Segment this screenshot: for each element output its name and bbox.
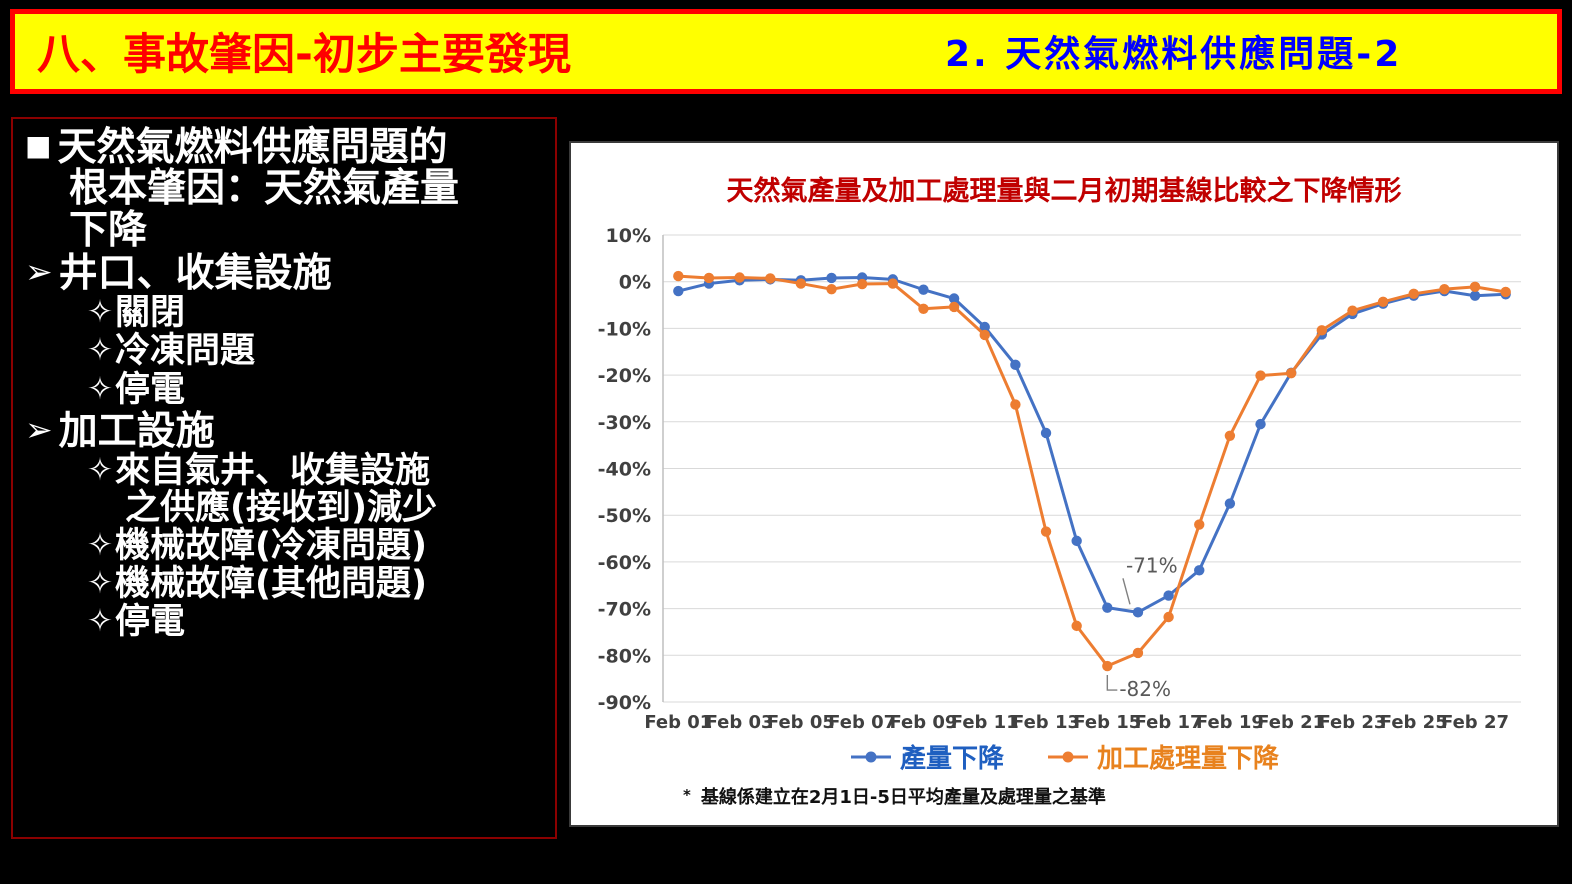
header-banner: 八、事故肇因-初步主要發現 2. 天然氣燃料供應問題-2 xyxy=(10,9,1562,94)
chart-data-point xyxy=(1133,648,1143,658)
bullet-text: 冷凍問題 xyxy=(115,333,255,370)
x-axis-tick-label: Feb 11 xyxy=(951,712,1019,733)
x-axis-tick-label: Feb 05 xyxy=(767,712,835,733)
y-axis-tick-label: -60% xyxy=(598,552,651,574)
x-axis-tick-label: Feb 27 xyxy=(1441,712,1509,733)
chart-legend: 產量下降 加工處理量下降 xyxy=(571,738,1557,775)
chart-footnote: *基線係建立在2月1日-5日平均產量及處理量之基準 xyxy=(683,783,1106,809)
bullet-text: 機械故障(其他問題) xyxy=(115,566,427,603)
chart-data-point xyxy=(918,304,928,314)
footnote-marker: * xyxy=(683,786,691,804)
chart-data-point xyxy=(949,302,959,312)
bullet-item-level-2: ✧停電 xyxy=(87,604,549,641)
chart-data-point xyxy=(1010,360,1020,370)
x-axis-tick-label: Feb 09 xyxy=(889,712,957,733)
x-axis-tick-label: Feb 21 xyxy=(1257,712,1325,733)
chart-data-point xyxy=(1071,621,1081,631)
bullet-list-panel: ■天然氣燃料供應問題的根本肇因：天然氣產量下降➢井口、收集設施✧關閉✧冷凍問題✧… xyxy=(11,117,557,839)
legend-item-production[interactable]: 產量下降 xyxy=(849,738,1004,775)
chart-data-point xyxy=(1255,419,1265,429)
annotation-leader-line xyxy=(1107,675,1117,690)
bullet-text: 機械故障(冷凍問題) xyxy=(115,528,427,565)
chart-data-point xyxy=(1409,289,1419,299)
bullet-text: 關閉 xyxy=(115,295,185,332)
bullet-item-level-1: ➢井口、收集設施 xyxy=(25,253,549,294)
bullet-text: 停電 xyxy=(115,604,185,641)
x-axis-tick-label: Feb 23 xyxy=(1318,712,1386,733)
chart-data-point xyxy=(1010,399,1020,409)
chart-data-point xyxy=(704,273,714,283)
page-title-right: 2. 天然氣燃料供應問題-2 xyxy=(945,24,1402,76)
chart-data-point xyxy=(1194,519,1204,529)
diamond-bullet-icon: ✧ xyxy=(87,528,113,563)
legend-label-processing: 加工處理量下降 xyxy=(1097,738,1279,775)
bullet-item-level-2: ✧機械故障(其他問題) xyxy=(87,566,549,603)
x-axis-tick-label: Feb 19 xyxy=(1196,712,1264,733)
bullet-text: 來自氣井、收集設施 xyxy=(115,453,430,490)
y-axis-tick-label: -40% xyxy=(598,459,651,481)
bullet-continuation: 根本肇因：天然氣產量 xyxy=(69,168,549,209)
x-axis-tick-label: Feb 13 xyxy=(1012,712,1080,733)
x-axis-tick-label: Feb 15 xyxy=(1073,712,1141,733)
chart-data-point xyxy=(1071,536,1081,546)
chart-data-point xyxy=(765,273,775,283)
y-axis-tick-label: -30% xyxy=(598,412,651,434)
line-chart-svg: 10%0%-10%-20%-30%-40%-50%-60%-70%-80%-90… xyxy=(571,143,1557,825)
chart-data-point xyxy=(1163,612,1173,622)
y-axis-tick-label: -10% xyxy=(598,318,651,340)
y-axis-tick-label: -70% xyxy=(598,599,651,621)
chart-data-point xyxy=(1286,368,1296,378)
chart-data-point xyxy=(1347,305,1357,315)
chart-data-point xyxy=(1225,498,1235,508)
bullet-item-level-2: ✧關閉 xyxy=(87,295,549,332)
diamond-bullet-icon: ✧ xyxy=(87,453,113,488)
chart-data-point xyxy=(888,278,898,288)
chart-plot-area: 10%0%-10%-20%-30%-40%-50%-60%-70%-80%-90… xyxy=(571,143,1557,825)
chart-data-point xyxy=(1255,370,1265,380)
page-title-left: 八、事故肇因-初步主要發現 xyxy=(37,19,571,81)
chart-panel: 天然氣產量及加工處理量與二月初期基線比較之下降情形 10%0%-10%-20%-… xyxy=(569,141,1559,827)
bullet-item-level-1: ➢加工設施 xyxy=(25,411,549,452)
chart-data-point xyxy=(673,286,683,296)
footnote-text: 基線係建立在2月1日-5日平均產量及處理量之基準 xyxy=(701,787,1106,808)
chart-data-point xyxy=(1133,607,1143,617)
x-axis-tick-label: Feb 17 xyxy=(1135,712,1203,733)
x-axis-tick-label: Feb 03 xyxy=(706,712,774,733)
chart-data-point xyxy=(980,330,990,340)
chart-data-point xyxy=(1470,291,1480,301)
x-axis-tick-label: Feb 01 xyxy=(644,712,712,733)
y-axis-tick-label: -20% xyxy=(598,365,651,387)
chart-data-point xyxy=(1317,325,1327,335)
bullet-item-level-2: ✧冷凍問題 xyxy=(87,333,549,370)
bullet-text: 井口、收集設施 xyxy=(59,253,332,294)
chart-data-point xyxy=(1041,526,1051,536)
x-axis-tick-label: Feb 07 xyxy=(828,712,896,733)
chart-annotation-label: -82% xyxy=(1119,677,1171,701)
chart-data-point xyxy=(1102,602,1112,612)
y-axis-tick-label: -80% xyxy=(598,645,651,667)
chart-data-point xyxy=(1163,590,1173,600)
chart-annotation-label: -71% xyxy=(1126,553,1178,577)
chart-data-point xyxy=(918,284,928,294)
bullet-item-level-2: ✧機械故障(冷凍問題) xyxy=(87,528,549,565)
x-axis-tick-label: Feb 25 xyxy=(1380,712,1448,733)
bullet-item-level-2: ✧來自氣井、收集設施 xyxy=(87,453,549,490)
diamond-bullet-icon: ✧ xyxy=(87,333,113,368)
chart-data-point xyxy=(826,284,836,294)
arrow-bullet-icon: ➢ xyxy=(25,253,53,291)
chart-data-point xyxy=(857,279,867,289)
chart-data-point xyxy=(673,271,683,281)
chart-data-point xyxy=(1378,297,1388,307)
bullet-text: 天然氣燃料供應問題的 xyxy=(57,127,447,168)
chart-data-point xyxy=(796,278,806,288)
chart-series-line-processing xyxy=(678,276,1505,666)
annotation-leader-line xyxy=(1123,578,1130,604)
bullet-continuation: 之供應(接收到)減少 xyxy=(125,490,549,527)
y-axis-tick-label: 0% xyxy=(619,272,651,294)
chart-data-point xyxy=(826,273,836,283)
diamond-bullet-icon: ✧ xyxy=(87,295,113,330)
bullet-continuation: 下降 xyxy=(69,210,549,251)
diamond-bullet-icon: ✧ xyxy=(87,372,113,407)
chart-data-point xyxy=(1102,661,1112,671)
y-axis-tick-label: -50% xyxy=(598,505,651,527)
chart-data-point xyxy=(1439,284,1449,294)
legend-marker-orange-icon xyxy=(1046,749,1090,765)
square-bullet-icon: ■ xyxy=(25,127,51,165)
bullet-text: 加工設施 xyxy=(59,411,215,452)
chart-data-point xyxy=(1470,282,1480,292)
legend-item-processing[interactable]: 加工處理量下降 xyxy=(1046,738,1279,775)
chart-data-point xyxy=(1225,431,1235,441)
y-axis-tick-label: -90% xyxy=(598,692,651,714)
bullet-item-level-0: ■天然氣燃料供應問題的 xyxy=(25,127,549,168)
chart-data-point xyxy=(1041,428,1051,438)
diamond-bullet-icon: ✧ xyxy=(87,604,113,639)
chart-data-point xyxy=(734,272,744,282)
legend-marker-blue-icon xyxy=(849,749,893,765)
bullet-item-level-2: ✧停電 xyxy=(87,372,549,409)
diamond-bullet-icon: ✧ xyxy=(87,566,113,601)
y-axis-tick-label: 10% xyxy=(606,225,651,247)
bullet-text: 停電 xyxy=(115,372,185,409)
arrow-bullet-icon: ➢ xyxy=(25,411,53,449)
legend-label-production: 產量下降 xyxy=(900,738,1004,775)
chart-data-point xyxy=(1500,287,1510,297)
chart-data-point xyxy=(1194,565,1204,575)
